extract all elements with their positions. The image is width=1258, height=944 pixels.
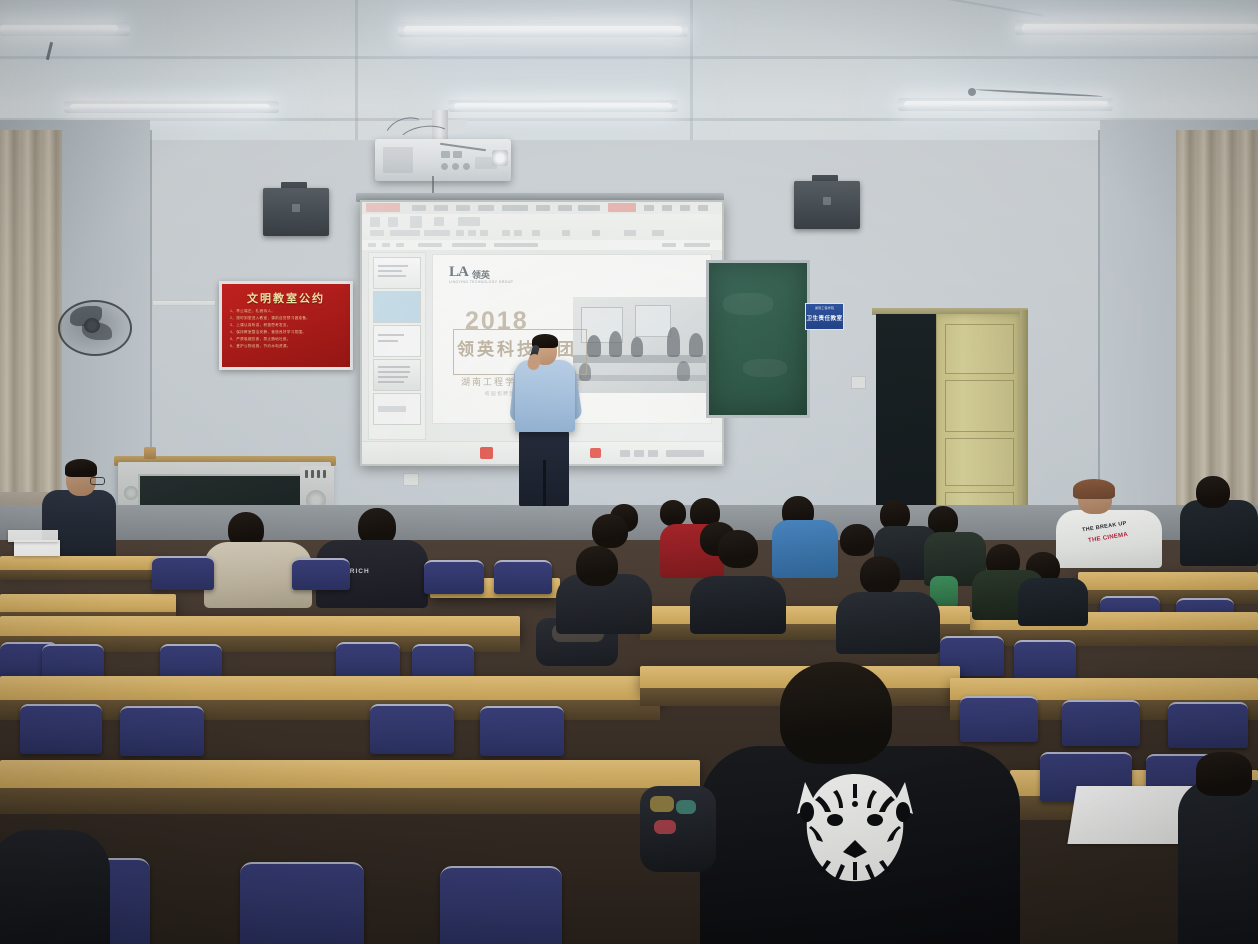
banner-rule: 4、保持教室整洁安静，营造良好学习氛围。 [230, 329, 344, 336]
projector-port [453, 151, 462, 158]
ppt-window-control[interactable] [680, 205, 690, 211]
door-panel [945, 324, 1014, 374]
ceiling-beam [690, 0, 693, 140]
ppt-select-button[interactable] [652, 230, 664, 236]
chair[interactable] [1062, 700, 1140, 746]
ppt-underline-button[interactable] [480, 230, 488, 236]
desk-front [0, 570, 160, 580]
chair[interactable] [424, 560, 484, 594]
podium-button[interactable] [317, 470, 320, 478]
backpack-patch [654, 820, 676, 834]
presenter-shirt [515, 360, 575, 432]
slide-logo-cn: 领英 [472, 271, 490, 280]
banner-title: 文明教室公约 [222, 290, 350, 306]
curtain-left [0, 130, 62, 500]
podium-speaker-grille [124, 486, 138, 500]
photo-desk [573, 375, 711, 381]
banner-rule: 3、上课认真听讲，积极思考发言。 [230, 322, 344, 329]
ppt-align-button[interactable] [514, 230, 522, 236]
banner-rule-list: 1、举止端庄，礼貌待人。 2、按时到堂进入教室，课前自觉预习做准备。 3、上课认… [230, 308, 344, 350]
jacket [1018, 578, 1088, 626]
sign-org-name: 湖南工程学院 [806, 306, 843, 310]
ppt-italic-button[interactable] [468, 230, 476, 236]
chair[interactable] [120, 706, 204, 756]
wall-speaker-left [263, 188, 329, 236]
ppt-shape-button[interactable] [562, 230, 570, 236]
photo-person [677, 361, 690, 381]
ppt-toolbar-button[interactable] [382, 243, 390, 247]
jacket [0, 830, 110, 944]
student-head [660, 500, 686, 526]
ppt-slide-thumbnail[interactable] [373, 393, 421, 425]
ppt-menu-item[interactable] [456, 205, 470, 211]
slide-logo: LA 领英 [449, 265, 490, 280]
slide-photo-collage [573, 297, 711, 393]
chair[interactable] [440, 866, 562, 944]
ppt-menu-item[interactable] [412, 205, 426, 211]
photo-person [689, 333, 703, 357]
desk-front [960, 630, 1258, 646]
sign-label: 卫生责任教室 [806, 314, 843, 322]
ceiling-light-back-right [904, 101, 1108, 108]
ppt-ribbon-button[interactable] [370, 230, 384, 236]
jacket [1178, 780, 1258, 944]
ppt-bold-button[interactable] [456, 230, 464, 236]
ppt-view-button[interactable] [634, 450, 644, 457]
photo-person [609, 331, 622, 357]
classroom-door[interactable] [936, 314, 1023, 536]
door-panel [945, 438, 1014, 486]
student-head [718, 530, 758, 568]
podium-button-row[interactable] [305, 470, 329, 478]
ppt-slide-thumbnail[interactable] [373, 325, 421, 357]
classroom-photo: 文明教室公约 1、举止端庄，礼貌待人。 2、按时到堂进入教室，课前自觉预习做准备… [0, 0, 1258, 944]
wall-speaker-right [794, 181, 860, 229]
ceiling-light-front-center [404, 26, 682, 35]
curtain-right [1176, 130, 1258, 510]
photo-person [587, 335, 601, 357]
slide-company-name: 领英科技集团 [457, 335, 577, 360]
chair[interactable] [494, 560, 552, 594]
ceiling-light-front-left [0, 25, 118, 33]
cup-on-podium[interactable] [144, 447, 156, 459]
ppt-menu-item[interactable] [434, 205, 448, 211]
backpack-patch [650, 796, 674, 812]
papers-on-desk [8, 530, 58, 542]
ppt-toolbar-button[interactable] [368, 243, 376, 247]
projector-port [463, 163, 470, 170]
jacket [690, 576, 786, 634]
student-head [592, 514, 628, 548]
photo-person [667, 327, 680, 357]
presenter-leg-gap [543, 460, 546, 506]
ppt-toolbar-button[interactable] [452, 243, 486, 247]
chair[interactable] [960, 696, 1038, 742]
chair[interactable] [20, 704, 102, 754]
chalk-smudge [743, 359, 787, 377]
fan-cage [58, 300, 132, 356]
backpack-patch [676, 800, 696, 814]
ppt-window-control[interactable] [662, 205, 672, 211]
chair[interactable] [152, 556, 214, 590]
ppt-ribbon-button[interactable] [458, 217, 480, 226]
wall-fan[interactable] [58, 300, 128, 352]
photo-window [635, 305, 671, 337]
ppt-menu-item[interactable] [478, 205, 494, 211]
power-outlet[interactable] [851, 376, 866, 389]
hygiene-responsibility-sign: 湖南工程学院 卫生责任教室 [805, 303, 844, 330]
ppt-slide-thumbnail[interactable] [373, 359, 421, 391]
ppt-font-name[interactable] [390, 230, 420, 236]
jacket [772, 520, 838, 578]
chalkboard [706, 260, 810, 418]
banner-rule: 6、爱护公物设施，节约水电资源。 [230, 343, 344, 350]
ppt-file-tab[interactable] [366, 203, 400, 212]
ppt-play-indicator[interactable] [590, 448, 601, 458]
ceiling-beam [0, 118, 1258, 121]
chair[interactable] [480, 706, 564, 756]
ppt-list-button[interactable] [532, 230, 540, 236]
glasses-icon [90, 477, 105, 485]
chair[interactable] [240, 862, 364, 944]
ppt-ribbon-button[interactable] [410, 216, 422, 228]
ppt-view-button[interactable] [620, 450, 630, 457]
ppt-slide-thumbnail[interactable] [373, 257, 421, 289]
desk [1078, 572, 1258, 592]
ppt-ribbon-button[interactable] [388, 217, 398, 227]
ppt-find-button[interactable] [624, 230, 636, 236]
chalk-smudge [723, 293, 773, 315]
ppt-ribbon-button[interactable] [370, 217, 380, 227]
student-head [1196, 476, 1230, 508]
ceiling-wire-anchor [968, 88, 976, 96]
ppt-shape-button[interactable] [592, 230, 600, 236]
ppt-slide-thumbnail-panel[interactable] [368, 252, 426, 440]
jacket [1180, 500, 1258, 566]
student-head [1196, 752, 1252, 796]
podium-button[interactable] [323, 470, 326, 478]
student-head [860, 556, 900, 594]
chair[interactable] [1168, 702, 1248, 748]
ppt-ribbon [362, 214, 722, 241]
student-head [840, 524, 874, 556]
projector-port [441, 163, 448, 170]
banner-rule: 5、严禁吸烟饮食，禁止随地吐痰。 [230, 336, 344, 343]
beanie-hat [1073, 479, 1115, 499]
student-head [576, 546, 618, 586]
ceiling-beam [0, 56, 1258, 59]
desk-front [0, 788, 700, 814]
ppt-window-control[interactable] [698, 205, 708, 211]
ppt-menu-item[interactable] [502, 205, 528, 211]
ceiling-light-back-left [70, 104, 270, 110]
ppt-toolbar-button[interactable] [418, 243, 442, 247]
wall-trim [152, 300, 216, 306]
ceiling-light-back-center [454, 103, 672, 110]
papers-on-desk [14, 540, 60, 556]
ceiling-beam [355, 0, 358, 140]
podium-button[interactable] [311, 470, 314, 478]
ppt-menu-item[interactable] [578, 205, 600, 211]
ppt-ribbon-button[interactable] [434, 217, 444, 226]
ceiling-light-front-right [1022, 24, 1258, 33]
power-outlet[interactable] [403, 473, 419, 486]
ppt-font-size[interactable] [424, 230, 450, 236]
ppt-view-button[interactable] [648, 450, 658, 457]
ppt-slide-thumbnail[interactable] [373, 291, 421, 323]
projector-port [441, 151, 450, 158]
chair[interactable] [1014, 640, 1076, 680]
ppt-align-button[interactable] [502, 230, 510, 236]
ppt-menu-item[interactable] [536, 205, 550, 211]
podium-button[interactable] [305, 470, 308, 478]
ppt-record-indicator[interactable] [480, 447, 493, 459]
photo-person [631, 337, 643, 357]
banner-rule: 2、按时到堂进入教室，课前自觉预习做准备。 [230, 315, 344, 322]
projector-port [452, 163, 459, 170]
ppt-window-control[interactable] [644, 205, 654, 211]
observer-hair [65, 459, 97, 477]
chair[interactable] [292, 558, 350, 590]
ppt-highlight-tab[interactable] [608, 203, 636, 212]
student-head [780, 662, 892, 764]
ppt-toolbar-button[interactable] [662, 243, 676, 247]
paper-sheet[interactable] [1067, 786, 1194, 844]
door-frame-right [1020, 310, 1028, 538]
jacket [836, 592, 940, 654]
ppt-toolbar-button[interactable] [494, 243, 538, 247]
ppt-menu-item[interactable] [558, 205, 572, 211]
ppt-toolbar-button[interactable] [684, 243, 710, 247]
banner-rule: 1、举止端庄，礼貌待人。 [230, 308, 344, 315]
projector-lens [492, 150, 508, 166]
ppt-zoom-slider[interactable] [666, 450, 704, 457]
chair[interactable] [370, 704, 454, 754]
slide-logo-subtext: LINGYING TECHNOLOGY GROUP [449, 280, 513, 284]
door-panel [945, 380, 1014, 432]
ppt-toolbar-button[interactable] [396, 243, 404, 247]
classroom-convention-banner: 文明教室公约 1、举止端庄，礼貌待人。 2、按时到堂进入教室，课前自觉预习做准备… [219, 281, 353, 370]
slide-logo-mark: LA [449, 265, 468, 280]
tiger-head-graphic [775, 760, 935, 892]
